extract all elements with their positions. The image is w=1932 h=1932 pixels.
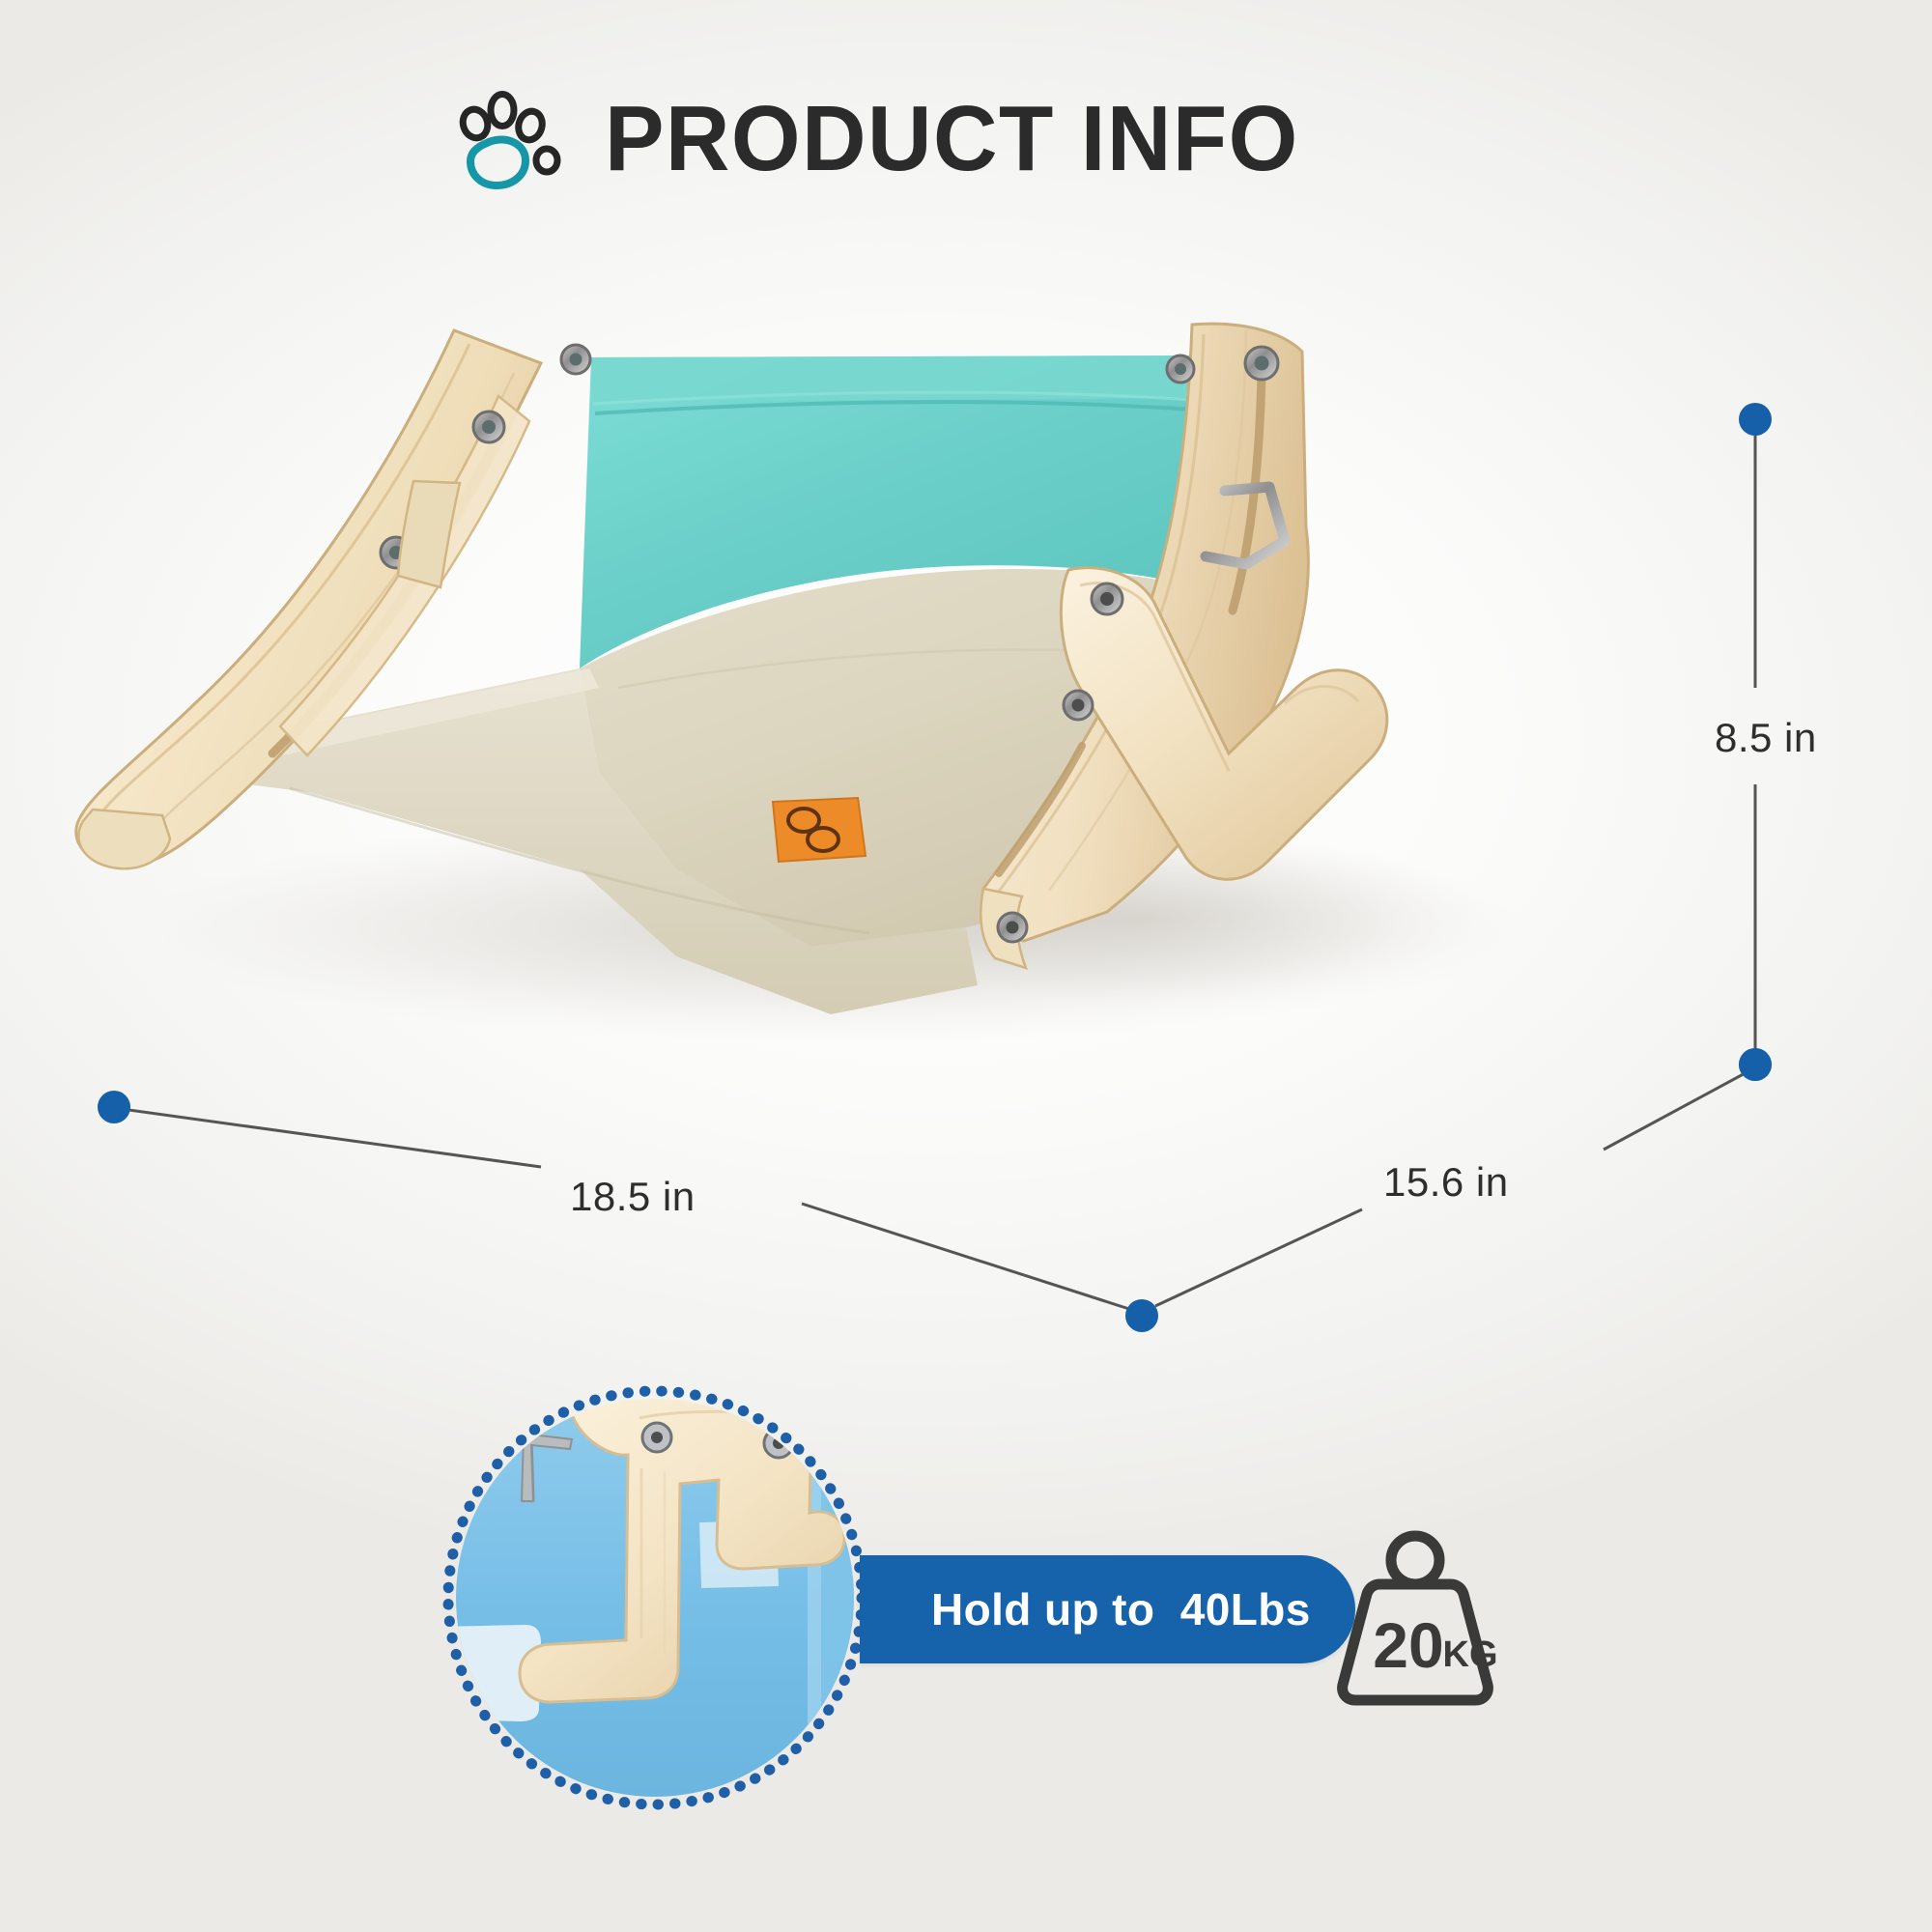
product-illustration [0,251,1932,1333]
product-photo [0,251,1932,1333]
closeup-illustration [437,1379,873,1816]
left-foot [78,810,170,868]
weight-capacity-label: Hold up to 40Lbs [931,1583,1311,1635]
weight-value-text: 20 [1373,1609,1443,1681]
dimension-label-height: 8.5 in [1715,715,1817,761]
paw-print-icon [454,89,562,189]
dimension-label-width: 18.5 in [570,1174,696,1220]
weight-kettlebell-icon: 20 KG [1325,1524,1505,1708]
page-header: PRODUCT INFO [454,89,1328,189]
bracket-mount-closeup [437,1379,873,1816]
dimension-label-depth: 15.6 in [1383,1159,1509,1206]
weight-icon-graphic: 20 KG [1325,1524,1505,1708]
page-title: PRODUCT INFO [605,93,1299,185]
product-info-infographic: PRODUCT INFO [0,0,1932,1932]
weight-capacity-badge: Hold up to 40Lbs [860,1555,1355,1663]
brand-tag [773,798,866,862]
weight-unit-text: KG [1443,1634,1498,1675]
